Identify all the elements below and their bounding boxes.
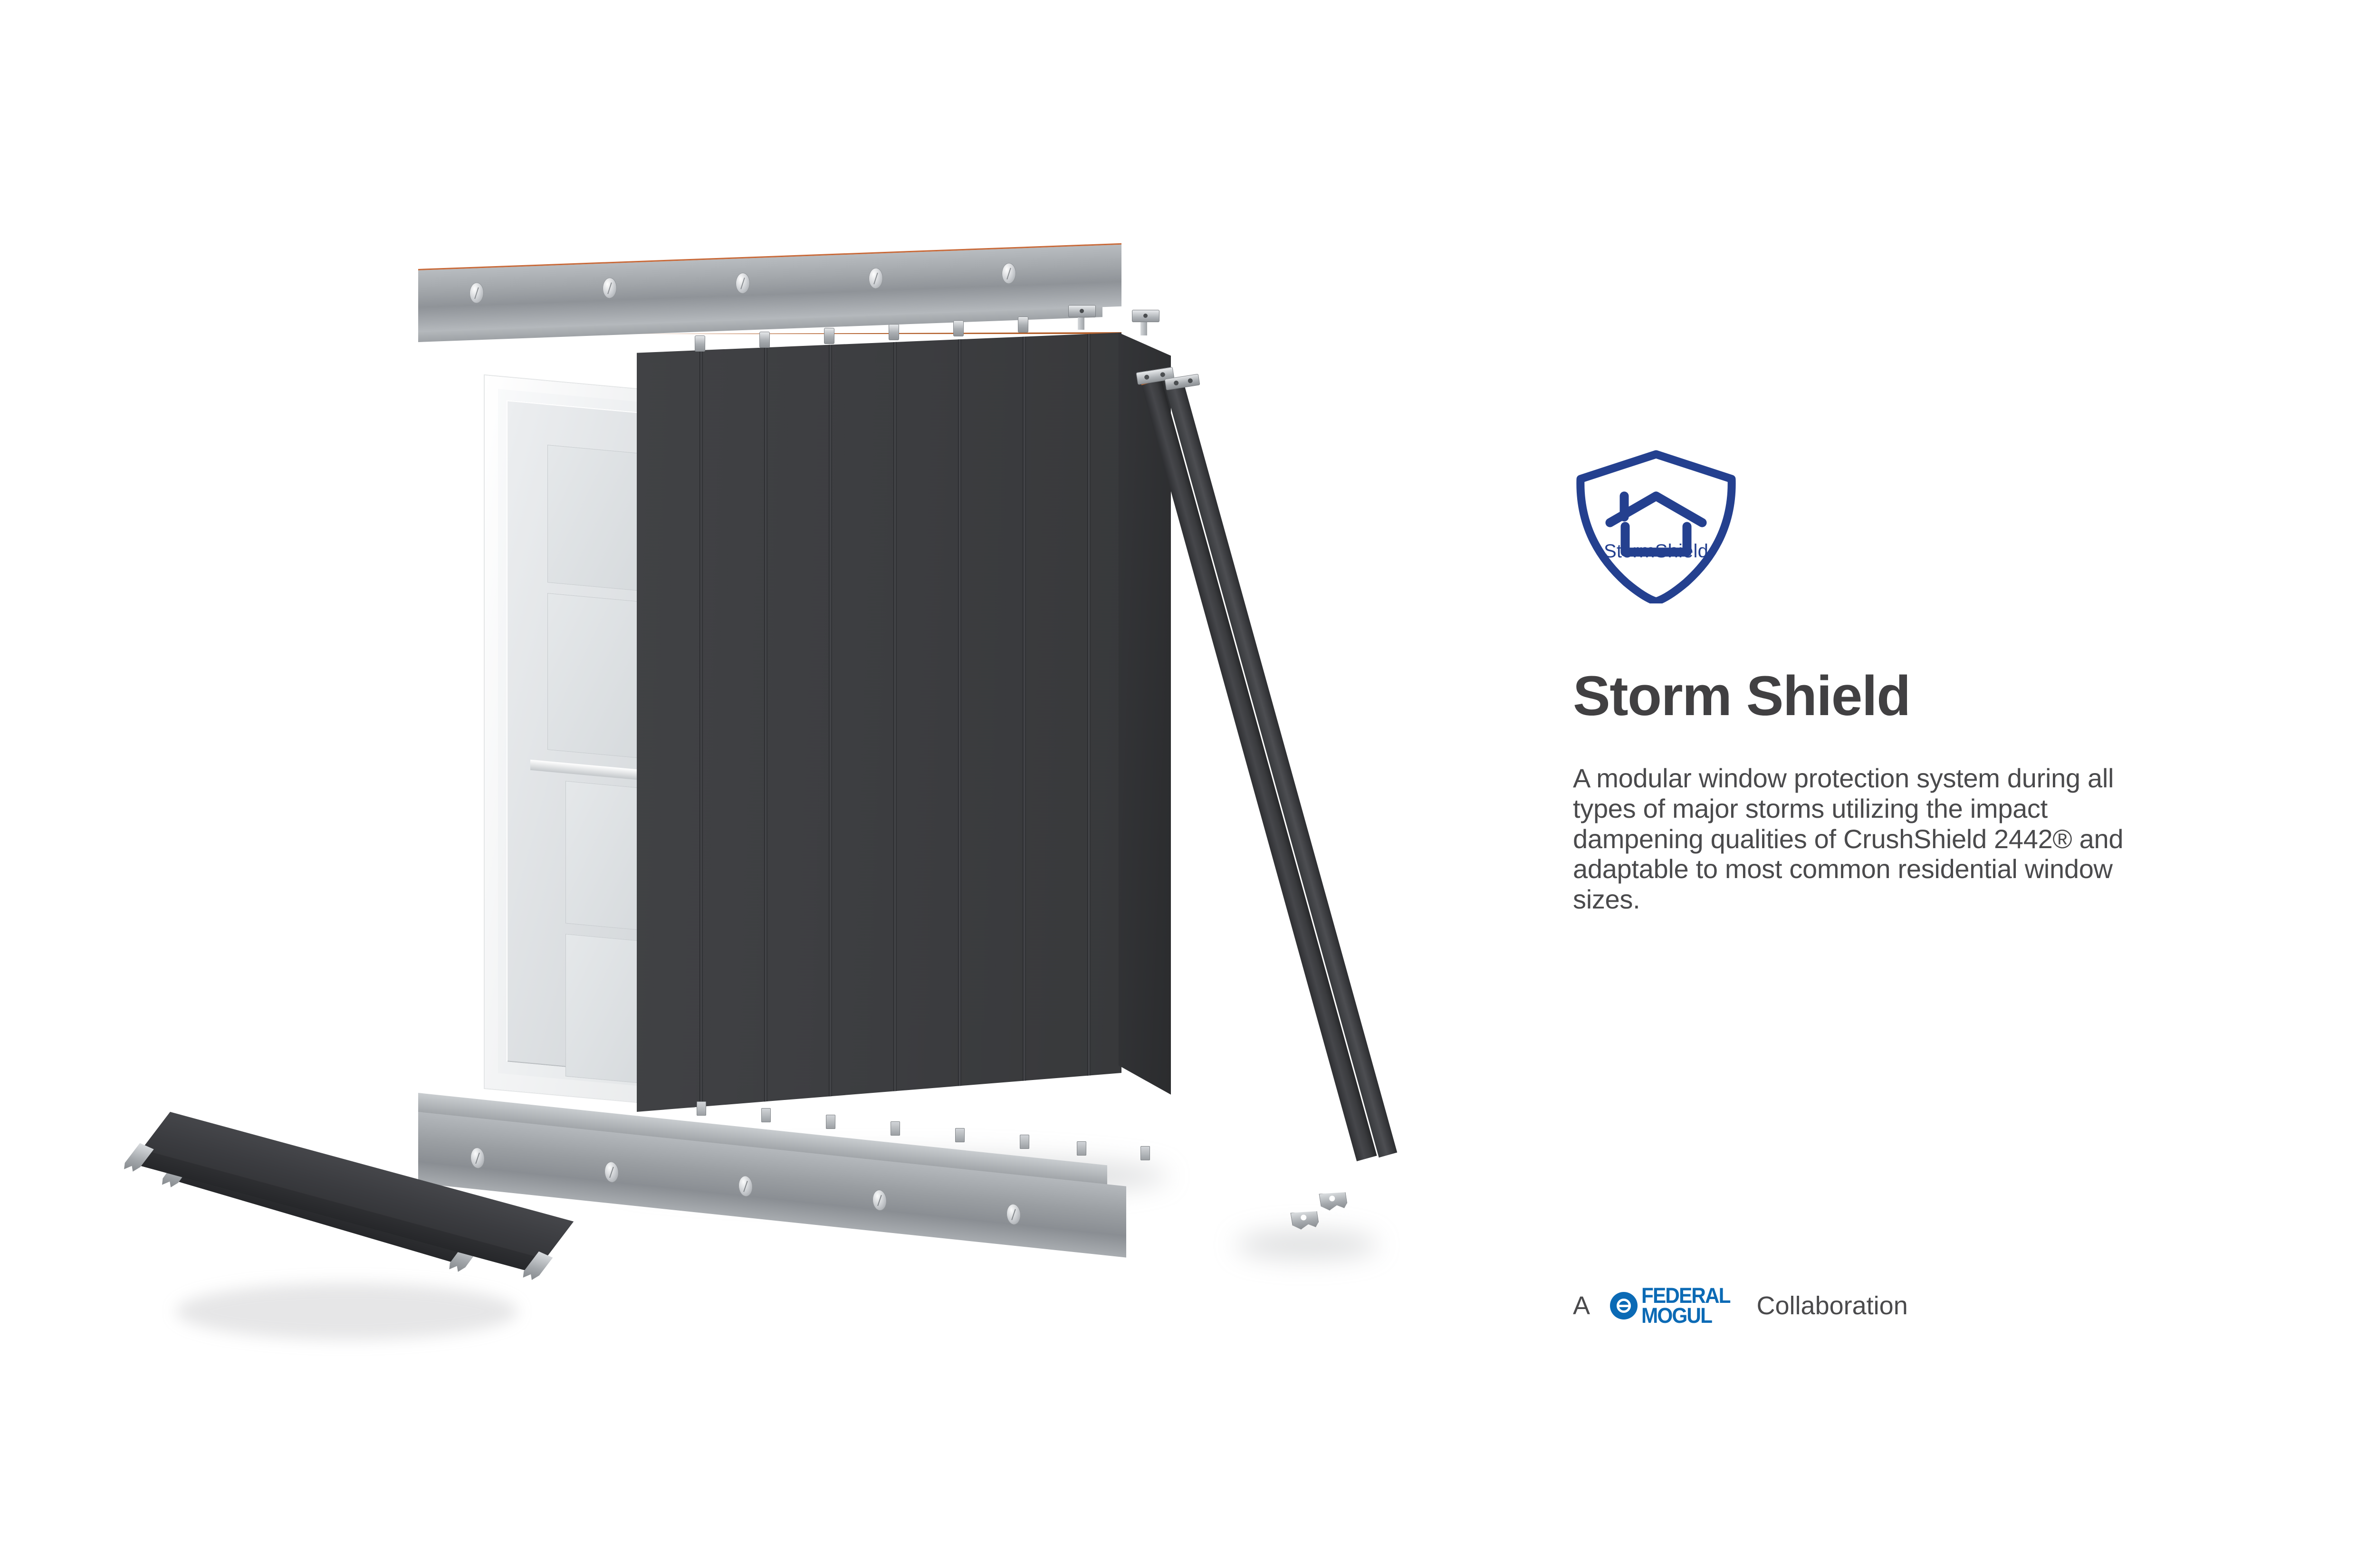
- panel-top-clip: [695, 335, 705, 352]
- page-canvas: StormShield Storm Shield A modular windo…: [0, 0, 2376, 1568]
- screw-head: [604, 1161, 619, 1183]
- panel-bottom-clip: [697, 1101, 706, 1116]
- panel-top-clip: [953, 320, 964, 336]
- bracket-hole: [1300, 1214, 1307, 1221]
- screw-head: [869, 268, 883, 289]
- screw-head: [603, 277, 617, 299]
- federal-mogul-line2: MOGUL: [1641, 1306, 1730, 1326]
- panel-bottom-clip: [955, 1128, 965, 1142]
- panel-seam: [958, 333, 961, 1112]
- panel-seam: [893, 333, 897, 1112]
- screw-head: [470, 1147, 485, 1169]
- logo-wordmark: StormShield: [1573, 541, 1739, 562]
- federal-mogul-line1: FEDERAL: [1641, 1286, 1730, 1306]
- screw-head: [469, 282, 484, 304]
- product-description: A modular window protection system durin…: [1573, 763, 2181, 915]
- stormshield-logo: StormShield: [1573, 447, 1739, 603]
- bracket-hole: [1143, 314, 1148, 318]
- product-render: [0, 0, 1473, 1568]
- panel-seam: [829, 333, 832, 1112]
- panel-top-clip: [759, 332, 770, 348]
- screw-head: [1006, 1203, 1021, 1225]
- bracket-hole: [1080, 309, 1084, 313]
- panel-top-clip: [889, 324, 899, 340]
- shield-icon: [1573, 447, 1739, 603]
- bracket-hole: [1329, 1195, 1335, 1202]
- panel-top-clip: [824, 328, 834, 344]
- collaboration-prefix: A: [1573, 1291, 1590, 1320]
- bracket-hole: [1144, 374, 1150, 380]
- bracket-hole: [1173, 380, 1178, 385]
- diagonal-support-brace: [1141, 377, 1377, 1161]
- brace-foot-bracket: [1319, 1190, 1348, 1212]
- panel-bottom-clip: [1020, 1135, 1029, 1149]
- shutter-panel: [637, 333, 1121, 1112]
- bracket-hole: [1188, 378, 1193, 383]
- panel-bottom-clip: [826, 1115, 835, 1129]
- page-title: Storm Shield: [1573, 668, 2286, 724]
- panel-seam: [699, 333, 703, 1112]
- screw-head: [736, 272, 750, 294]
- panel-top-bracket: [1132, 310, 1159, 322]
- panel-bottom-clip: [761, 1108, 771, 1122]
- panel-bottom-clip: [891, 1121, 900, 1136]
- federal-mogul-wordmark: FEDERAL MOGUL: [1641, 1286, 1736, 1326]
- bracket-hole: [1160, 372, 1165, 377]
- panel-top-bracket: [1068, 305, 1096, 317]
- diagonal-support-brace-secondary: [1166, 383, 1398, 1158]
- panel-texture: [637, 333, 1121, 1112]
- panel-seam: [1023, 333, 1026, 1112]
- collaboration-line: A FEDERAL MOGUL Collaboration: [1573, 1286, 1908, 1326]
- panel-bottom-clip: [1077, 1141, 1086, 1156]
- federal-mogul-theta-mark: [1610, 1292, 1638, 1319]
- panel-top-accent-edge: [637, 332, 1121, 334]
- screw-head: [1002, 263, 1016, 284]
- screw-head: [738, 1175, 753, 1197]
- info-panel: StormShield Storm Shield A modular windo…: [1573, 447, 2286, 941]
- collaboration-suffix: Collaboration: [1757, 1291, 1908, 1320]
- ground-shadow-brace: [1236, 1231, 1378, 1259]
- federal-mogul-logo: FEDERAL MOGUL: [1610, 1286, 1736, 1326]
- panel-bottom-clip: [1140, 1146, 1150, 1160]
- panel-seam: [764, 333, 767, 1112]
- panel-top-clip: [1018, 316, 1028, 333]
- panel-seam: [1087, 333, 1091, 1112]
- brace-foot-bracket: [1290, 1209, 1319, 1231]
- screw-head: [872, 1189, 887, 1211]
- rail-contact-shadow: [176, 1283, 518, 1340]
